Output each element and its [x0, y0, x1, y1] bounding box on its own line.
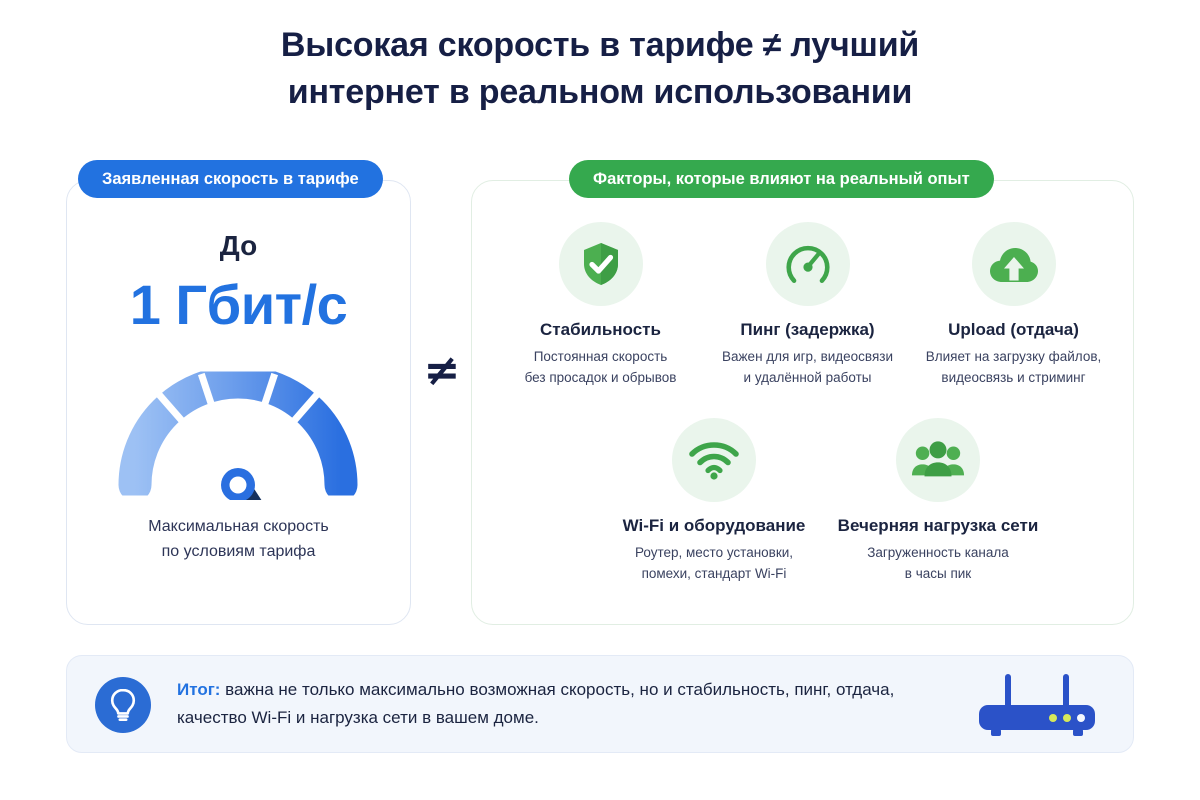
up-to-label: До [66, 230, 411, 262]
factor-item-ping: Пинг (задержка) Важен для игр, видеосвяз… [705, 222, 910, 388]
factor-title: Upload (отдача) [911, 320, 1116, 340]
gauge-caption-line-1: Максимальная скорость [66, 515, 411, 540]
speedometer-icon [766, 222, 850, 306]
factor-item-upload: Upload (отдача) Влияет на загрузку файло… [911, 222, 1116, 388]
factor-description: Влияет на загрузку файлов, видеосвязь и … [911, 347, 1116, 388]
summary-bar: Итог: важна не только максимально возмож… [66, 655, 1134, 753]
factor-item-wifi: Wi-Fi и оборудование Роутер, место устан… [599, 418, 829, 584]
summary-label: Итог: [177, 680, 220, 699]
factor-desc-line-2: без просадок и обрывов [498, 368, 703, 389]
speed-value: 1 Гбит/с [66, 272, 411, 337]
panels-area: Заявленная скорость в тарифе До 1 Гбит/с [0, 160, 1200, 640]
summary-body: важна не только максимально возможная ск… [177, 680, 894, 727]
people-group-icon [896, 418, 980, 502]
speedometer-gauge-icon [113, 360, 363, 500]
gauge-caption-line-2: по условиям тарифа [66, 540, 411, 565]
not-equal-symbol: ≠ [415, 345, 469, 396]
gauge-caption: Максимальная скорость по условиям тарифа [66, 515, 411, 565]
factor-item-network-load: Вечерняя нагрузка сети Загруженность кан… [823, 418, 1053, 584]
wifi-router-icon [971, 672, 1101, 738]
factor-description: Важен для игр, видеосвязи и удалённой ра… [705, 347, 910, 388]
factor-title: Вечерняя нагрузка сети [823, 516, 1053, 536]
factor-item-stability: Стабильность Постоянная скорость без про… [498, 222, 703, 388]
page-title: Высокая скорость в тарифе ≠ лучший интер… [0, 22, 1200, 116]
lightbulb-icon [95, 677, 151, 733]
factor-desc-line-1: Загруженность канала [823, 543, 1053, 564]
declared-speed-badge: Заявленная скорость в тарифе [78, 160, 383, 198]
factor-desc-line-2: помехи, стандарт Wi-Fi [599, 564, 829, 585]
factor-desc-line-1: Важен для игр, видеосвязи [705, 347, 910, 368]
factor-description: Загруженность канала в часы пик [823, 543, 1053, 584]
factor-desc-line-2: и удалённой работы [705, 368, 910, 389]
shield-check-icon [559, 222, 643, 306]
factors-grid: Стабильность Постоянная скорость без про… [471, 180, 1134, 625]
page-title-line-1: Высокая скорость в тарифе ≠ лучший [0, 22, 1200, 69]
real-factors-badge: Факторы, которые влияют на реальный опыт [569, 160, 994, 198]
page-title-line-2: интернет в реальном использовании [0, 69, 1200, 116]
factor-desc-line-1: Роутер, место установки, [599, 543, 829, 564]
factor-desc-line-1: Постоянная скорость [498, 347, 703, 368]
factor-description: Постоянная скорость без просадок и обрыв… [498, 347, 703, 388]
factor-description: Роутер, место установки, помехи, стандар… [599, 543, 829, 584]
factor-desc-line-2: в часы пик [823, 564, 1053, 585]
factor-title: Wi-Fi и оборудование [599, 516, 829, 536]
factor-desc-line-1: Влияет на загрузку файлов, [911, 347, 1116, 368]
factor-title: Стабильность [498, 320, 703, 340]
summary-text: Итог: важна не только максимально возмож… [177, 676, 967, 732]
cloud-upload-icon [972, 222, 1056, 306]
factor-desc-line-2: видеосвязь и стриминг [911, 368, 1116, 389]
factor-title: Пинг (задержка) [705, 320, 910, 340]
wifi-icon [672, 418, 756, 502]
